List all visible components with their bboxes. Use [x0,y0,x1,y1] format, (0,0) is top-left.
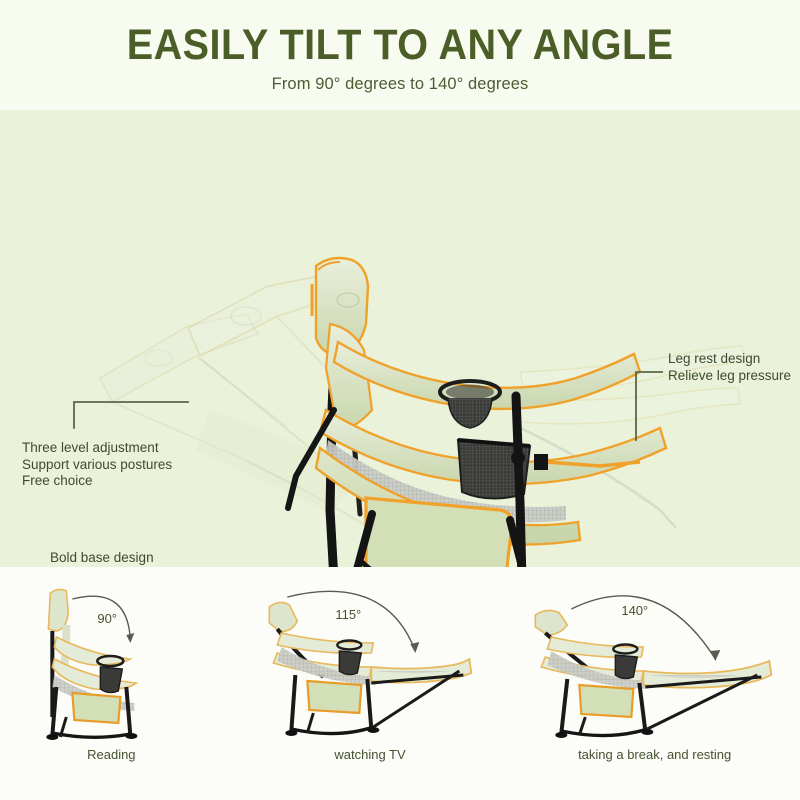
main-chair-illustration [0,110,800,567]
header-band: EASILY TILT TO ANY ANGLE From 90° degree… [0,0,800,110]
position-caption-140: taking a break, and resting [521,747,788,762]
position-caption-115: watching TV [237,747,504,762]
callout-leg-rest-design: Leg rest design Relieve leg pressure [668,351,791,384]
infographic-page: EASILY TILT TO ANY ANGLE From 90° degree… [0,0,800,800]
position-card-115: 115° [267,567,534,800]
page-title: EASILY TILT TO ANY ANGLE [127,22,674,68]
callout-line: Support various postures [22,457,172,474]
callout-line: Relieve leg pressure [668,368,791,385]
chair-90-illustration: 90° [0,567,267,753]
callout-line: Bold base design [50,550,260,567]
page-subtitle: From 90° degrees to 140° degrees [272,75,529,94]
callout-line: Free choice [22,473,172,490]
angle-label-90: 90° [97,611,117,626]
seat-skirt-panel [366,498,512,567]
leader-three-level [74,402,188,428]
angle-label-115: 115° [335,607,361,622]
position-caption-90: Reading [0,747,245,762]
angle-label-140: 140° [622,603,649,618]
position-card-90: 90° [0,567,267,800]
angle-positions-panel: 90° [0,567,800,800]
callout-bold-base-design: Bold base design Stronger load-bearing c… [50,550,260,567]
callout-three-level-adjustment: Three level adjustment Support various p… [22,440,172,490]
chair-115-illustration: 115° [267,567,534,753]
callout-line: Three level adjustment [22,440,172,457]
position-card-140: 140° [533,567,800,800]
main-illustration-panel: Three level adjustment Support various p… [0,110,800,567]
chair-140-illustration: 140° [533,567,800,753]
callout-line: Leg rest design [668,351,791,368]
